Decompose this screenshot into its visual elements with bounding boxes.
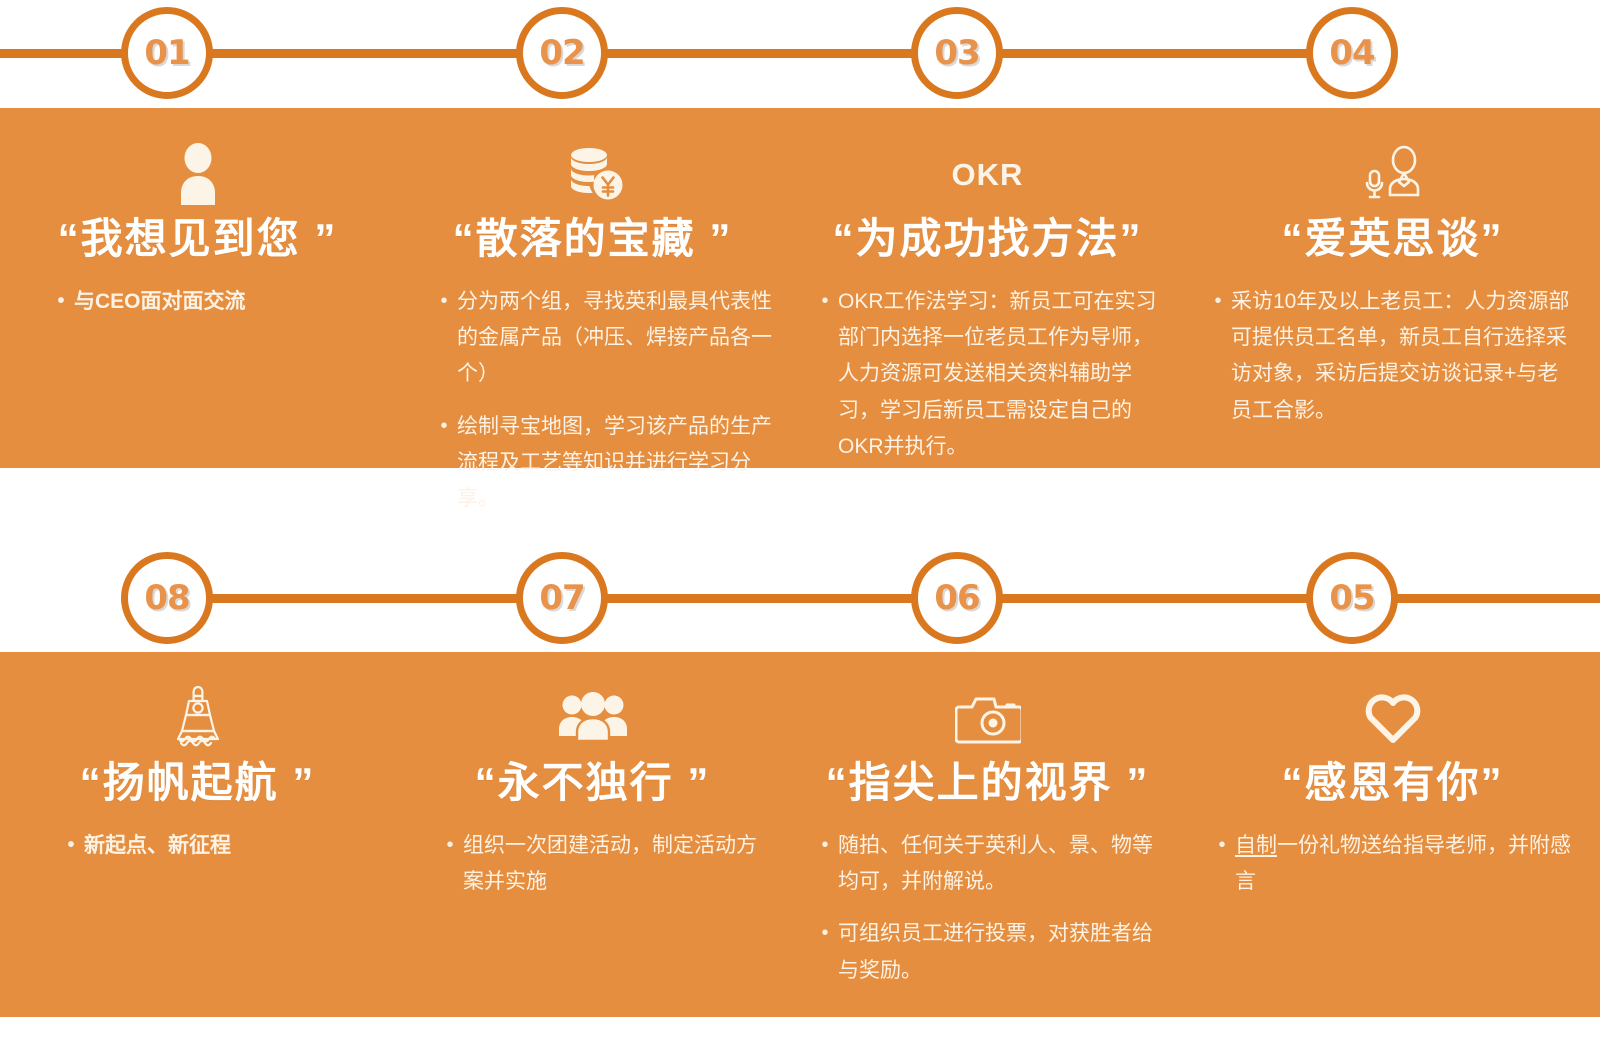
timeline-node-number: 08 [144, 581, 189, 615]
step-card-05: “感恩有你” • 自制一份礼物送给指导老师，并附感言 [1185, 652, 1600, 1017]
timeline-segment [560, 594, 960, 603]
bullet-text: 新起点、新征程 [84, 828, 358, 864]
timeline-node-number: 01 [144, 36, 189, 70]
group-people-icon [395, 682, 790, 754]
bullet-list: • 随拍、任何关于英利人、景、物等均可，并附解说。 • 可组织员工进行投票，对获… [812, 828, 1164, 988]
bullet-item: • 采访10年及以上老员工：人力资源部可提供员工名单，新员工自行选择采访对象，采… [1205, 284, 1577, 428]
timeline-node-08[interactable]: 08 [121, 552, 213, 644]
timeline-segment [955, 49, 1355, 58]
coins-yen-icon [395, 138, 790, 210]
bullet-marker: • [1209, 828, 1235, 900]
timeline-node-number: 03 [934, 36, 979, 70]
timeline-node-number: 07 [539, 581, 584, 615]
bullet-list: • 新起点、新征程 [58, 828, 358, 864]
bullet-item: • 绘制寻宝地图，学习该产品的生产流程及工艺等知识并进行学习分享。 [431, 409, 779, 517]
timeline-segment [955, 594, 1355, 603]
timeline-node-04[interactable]: 04 [1306, 7, 1398, 99]
bullet-item: • OKR工作法学习：新员工可在实习部门内选择一位老员工作为导师，人力资源可发送… [812, 284, 1164, 465]
bullet-list: • OKR工作法学习：新员工可在实习部门内选择一位老员工作为导师，人力资源可发送… [812, 284, 1164, 465]
timeline-segment [560, 49, 960, 58]
bullet-marker: • [812, 828, 838, 900]
timeline-segment [165, 594, 565, 603]
timeline-segment [165, 49, 565, 58]
step-title: “指尖上的视界 ” [790, 760, 1185, 806]
bullet-text: 随拍、任何关于英利人、景、物等均可，并附解说。 [838, 828, 1164, 900]
step-title: “永不独行 ” [395, 760, 790, 806]
timeline-node-06[interactable]: 06 [911, 552, 1003, 644]
content-band-top: “我想见到您 ” • 与CEO面对面交流 “散落的宝藏 [0, 108, 1600, 468]
bullet-list: • 自制一份礼物送给指导老师，并附感言 [1209, 828, 1571, 900]
timeline-node-01[interactable]: 01 [121, 7, 213, 99]
bullet-list: • 分为两个组，寻找英利最具代表性的金属产品（冲压、焊接产品各一个） • 绘制寻… [431, 284, 779, 517]
bullet-marker: • [812, 916, 838, 988]
step-card-01: “我想见到您 ” • 与CEO面对面交流 [0, 108, 395, 468]
timeline-node-02[interactable]: 02 [516, 7, 608, 99]
content-band-bottom: “扬帆起航 ” • 新起点、新征程 “永不独行 ” [0, 652, 1600, 1017]
heart-icon [1185, 682, 1600, 754]
bullet-marker: • [58, 828, 84, 864]
bullet-item: • 组织一次团建活动，制定活动方案并实施 [437, 828, 777, 900]
interview-microphone-icon [1185, 138, 1600, 210]
bullet-list: • 组织一次团建活动，制定活动方案并实施 [437, 828, 777, 900]
bullet-item: • 与CEO面对面交流 [48, 284, 348, 320]
bullet-marker: • [437, 828, 463, 900]
camera-icon [790, 682, 1185, 754]
bullet-marker: • [48, 284, 74, 320]
timeline-node-number: 04 [1329, 36, 1374, 70]
bullet-item: • 新起点、新征程 [58, 828, 358, 864]
step-card-03: OKR “为成功找方法” • OKR工作法学习：新员工可在实习部门内选择一位老员… [790, 108, 1185, 468]
step-card-02: “散落的宝藏 ” • 分为两个组，寻找英利最具代表性的金属产品（冲压、焊接产品各… [395, 108, 790, 468]
timeline-node-05[interactable]: 05 [1306, 552, 1398, 644]
timeline-node-07[interactable]: 07 [516, 552, 608, 644]
slide-root: 01 02 03 04 “我想见到您 ” • 与CEO面对面 [0, 0, 1600, 1058]
timeline-node-number: 06 [934, 581, 979, 615]
rocket-icon [0, 682, 395, 754]
bullet-marker: • [1205, 284, 1231, 428]
bullet-text: 采访10年及以上老员工：人力资源部可提供员工名单，新员工自行选择采访对象，采访后… [1231, 284, 1577, 428]
bullet-marker: • [431, 409, 457, 517]
step-title: “为成功找方法” [790, 216, 1185, 262]
bullet-text: 与CEO面对面交流 [74, 284, 348, 320]
bullet-marker: • [812, 284, 838, 465]
step-title: “爱英思谈” [1185, 216, 1600, 262]
timeline-node-number: 02 [539, 36, 584, 70]
bullet-item: • 自制一份礼物送给指导老师，并附感言 [1209, 828, 1571, 900]
person-icon [0, 138, 395, 210]
step-card-04: “爱英思谈” • 采访10年及以上老员工：人力资源部可提供员工名单，新员工自行选… [1185, 108, 1600, 468]
okr-label: OKR [952, 159, 1024, 190]
bullet-item: • 随拍、任何关于英利人、景、物等均可，并附解说。 [812, 828, 1164, 900]
bullet-list: • 与CEO面对面交流 [48, 284, 348, 320]
bullet-text: OKR工作法学习：新员工可在实习部门内选择一位老员工作为导师，人力资源可发送相关… [838, 284, 1164, 465]
timeline-row-bottom: 08 07 06 05 [0, 545, 1600, 650]
bullet-text: 组织一次团建活动，制定活动方案并实施 [463, 828, 777, 900]
step-title: “散落的宝藏 ” [395, 216, 790, 262]
timeline-row-top: 01 02 03 04 [0, 0, 1600, 105]
bullet-list: • 采访10年及以上老员工：人力资源部可提供员工名单，新员工自行选择采访对象，采… [1205, 284, 1577, 428]
step-card-08: “扬帆起航 ” • 新起点、新征程 [0, 652, 395, 1017]
step-card-07: “永不独行 ” • 组织一次团建活动，制定活动方案并实施 [395, 652, 790, 1017]
okr-text-icon: OKR [790, 138, 1185, 210]
bullet-text: 自制一份礼物送给指导老师，并附感言 [1235, 828, 1571, 900]
bullet-item: • 分为两个组，寻找英利最具代表性的金属产品（冲压、焊接产品各一个） [431, 284, 779, 392]
bullet-text: 分为两个组，寻找英利最具代表性的金属产品（冲压、焊接产品各一个） [457, 284, 779, 392]
timeline-node-number: 05 [1329, 581, 1374, 615]
timeline-node-03[interactable]: 03 [911, 7, 1003, 99]
bullet-text: 绘制寻宝地图，学习该产品的生产流程及工艺等知识并进行学习分享。 [457, 409, 779, 517]
step-title: “感恩有你” [1185, 760, 1600, 806]
step-title: “扬帆起航 ” [0, 760, 395, 806]
step-card-06: “指尖上的视界 ” • 随拍、任何关于英利人、景、物等均可，并附解说。 • 可组… [790, 652, 1185, 1017]
step-title: “我想见到您 ” [0, 216, 395, 262]
bullet-item: • 可组织员工进行投票，对获胜者给与奖励。 [812, 916, 1164, 988]
bullet-text: 可组织员工进行投票，对获胜者给与奖励。 [838, 916, 1164, 988]
bullet-marker: • [431, 284, 457, 392]
